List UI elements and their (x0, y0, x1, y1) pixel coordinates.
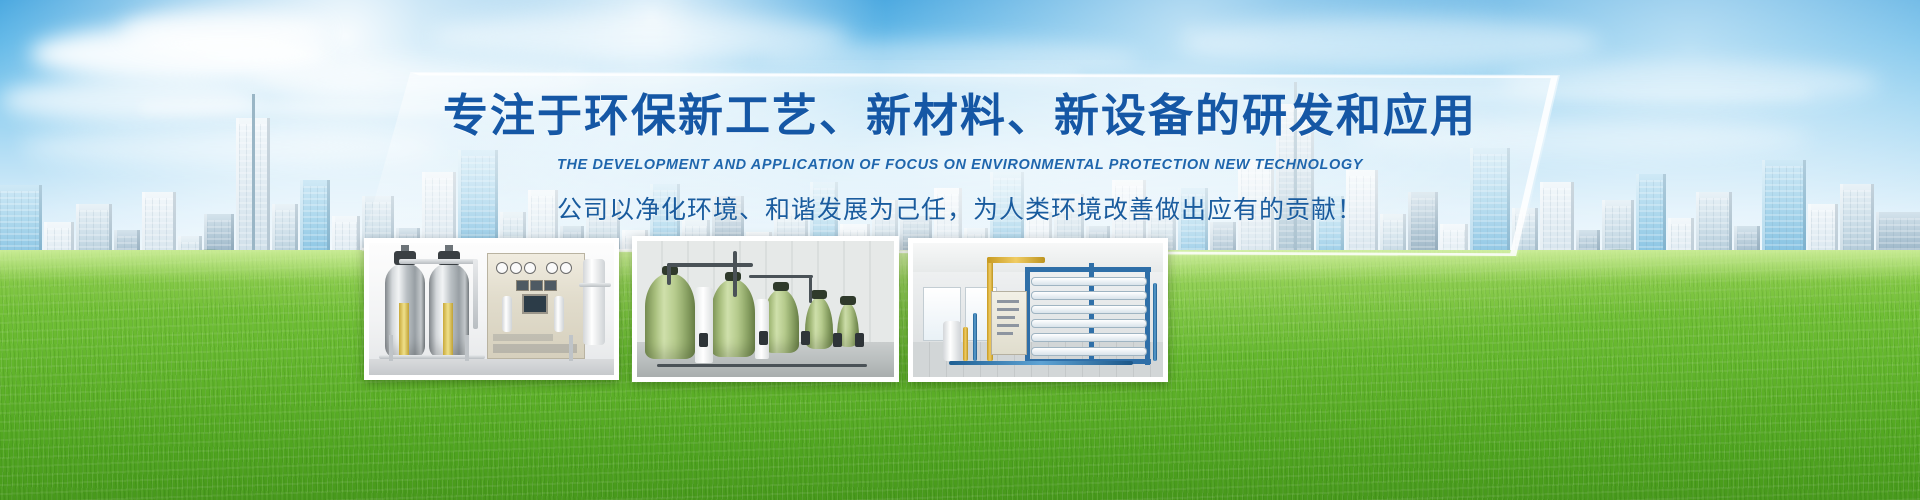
pressure-gauge-icon (524, 262, 536, 274)
panel-line (997, 324, 1019, 327)
vertical-pipe (809, 275, 812, 303)
ro-vessel (583, 259, 605, 345)
frp-filter-tank-array-image (637, 241, 894, 377)
valve-icon (801, 331, 810, 345)
switch-icon (516, 280, 529, 291)
tank-lid (811, 290, 827, 299)
panel-line (997, 300, 1019, 303)
yellow-pipe (987, 257, 1045, 263)
top-pipe (399, 259, 477, 264)
panel-line (997, 332, 1013, 335)
stainless-steel-water-treatment-system-image (369, 243, 614, 375)
product-photo-3[interactable] (908, 238, 1168, 382)
frp-tank (645, 273, 695, 359)
membrane-vessel (1031, 333, 1147, 342)
panel-line (997, 308, 1019, 311)
membrane-vessel (1031, 291, 1147, 300)
gauge-row (494, 262, 578, 274)
blue-pipe (949, 361, 1133, 365)
vertical-pipe (733, 251, 737, 297)
yellow-pipe (399, 303, 409, 359)
product-photo-strip (0, 0, 1920, 500)
display-screen (522, 294, 548, 314)
tank-lid (773, 282, 789, 291)
reverse-osmosis-membrane-skid-image (913, 243, 1163, 377)
switch-icon (530, 280, 543, 291)
frame-leg (389, 335, 393, 361)
blue-pipe (1153, 283, 1157, 361)
pressure-gauge-icon (560, 262, 572, 274)
pressure-gauge-icon (510, 262, 522, 274)
product-photo-1[interactable] (364, 238, 619, 380)
valve-icon (759, 331, 768, 345)
membrane-vessel (1031, 347, 1147, 356)
frame-beam (1025, 267, 1151, 272)
white-tank (755, 299, 769, 359)
hero-banner: 专注于环保新工艺、新材料、新设备的研发和应用 THE DEVELOPMENT A… (0, 0, 1920, 500)
panel-label (493, 344, 577, 353)
riser-pipe (473, 259, 478, 329)
header-pipe (667, 263, 753, 267)
blue-pipe (973, 313, 977, 361)
frame-leg (569, 335, 573, 361)
membrane-vessel (1031, 277, 1147, 286)
filter-vessel (502, 296, 512, 332)
control-panel (991, 291, 1027, 355)
switch-row (496, 280, 576, 290)
manifold-pipe (379, 355, 485, 359)
yellow-pipe (443, 303, 453, 359)
pressure-gauge-icon (496, 262, 508, 274)
valve-icon (833, 333, 842, 347)
header-pipe (749, 275, 813, 278)
pump-vessel (943, 321, 961, 361)
filter-vessel (554, 296, 564, 332)
white-tank (695, 287, 713, 363)
yellow-pipe (963, 327, 968, 361)
membrane-vessel (1031, 305, 1147, 314)
valve-icon (699, 333, 708, 347)
membrane-vessel (1031, 319, 1147, 328)
valve-icon (855, 333, 864, 347)
frame-leg (465, 335, 469, 361)
panel-label (493, 334, 553, 341)
lower-manifold (657, 364, 867, 367)
panel-line (997, 316, 1015, 319)
floor (369, 359, 614, 375)
switch-icon (544, 280, 557, 291)
tank-lid (840, 296, 856, 305)
connect-pipe (579, 283, 611, 287)
pressure-gauge-icon (546, 262, 558, 274)
product-photo-2[interactable] (632, 236, 899, 382)
